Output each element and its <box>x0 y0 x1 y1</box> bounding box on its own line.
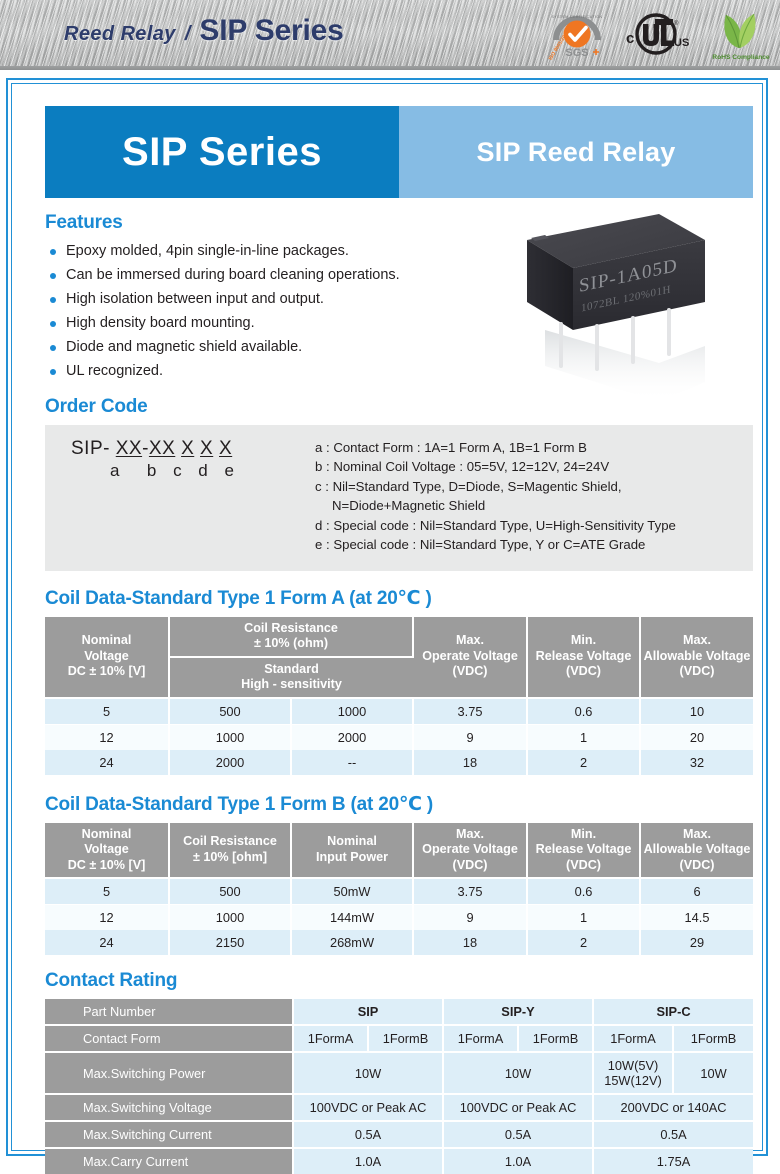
cell: 32 <box>640 750 753 776</box>
th-max-operate-voltage: Max. Operate Voltage (VDC) <box>413 823 527 879</box>
th-line: Coil Resistance <box>244 621 338 635</box>
cell: 0.5A <box>593 1121 753 1148</box>
cell: 10 <box>640 698 753 725</box>
svg-text:SYSTEM CERTIFICATION: SYSTEM CERTIFICATION <box>552 15 603 19</box>
sgs-iso-logo: SGS SYSTEM CERTIFICATION ISO 9001/2000 <box>546 6 608 67</box>
svg-text:®: ® <box>674 20 679 27</box>
cell: 1FormB <box>368 1025 443 1052</box>
coil-data-form-b-heading: Coil Data-Standard Type 1 Form B (at 20℃… <box>45 793 737 816</box>
list-item: High isolation between input and output. <box>47 289 737 311</box>
th-line: High - sensitivity <box>241 677 342 691</box>
cell: 1 <box>527 905 640 931</box>
cell: 5 <box>45 698 169 725</box>
order-code-section: Order Code SIP- XX-XX X X X a b c d e a … <box>39 396 737 571</box>
series-banner: SIP Series SIP Reed Relay <box>45 106 753 198</box>
th-nominal-input-power: Nominal Input Power <box>291 823 413 879</box>
cell: 0.5A <box>443 1121 593 1148</box>
order-code-letters: a b c d e <box>71 461 315 481</box>
svg-text:SGS: SGS <box>565 47 588 59</box>
rohs-compliance-logo: RoHS Compliance <box>712 6 770 67</box>
cell: 1FormA <box>443 1025 518 1052</box>
features-heading: Features <box>45 212 737 234</box>
cell: 1000 <box>169 724 291 750</box>
row-label-contact-form: Contact Form <box>45 1025 293 1052</box>
th-coil-resistance: Coil Resistance ± 10% (ohm) <box>169 617 413 657</box>
brand-subtitle: Reed Relay <box>64 23 176 46</box>
th-line: Voltage <box>84 842 129 856</box>
brand-maintitle: SIP Series <box>199 14 343 48</box>
banner-series-block: SIP Series <box>45 106 399 198</box>
row-label-max-switching-voltage: Max.Switching Voltage <box>45 1094 293 1121</box>
coil-data-form-a-section: Coil Data-Standard Type 1 Form A (at 20℃… <box>39 587 737 776</box>
cell-power-sip-c-a: 10W(5V) 15W(12V) <box>593 1052 673 1094</box>
banner-product-block: SIP Reed Relay <box>399 106 753 198</box>
th-max-allowable-voltage: Max. Allowable Voltage (VDC) <box>640 617 753 698</box>
th-line: (VDC) <box>680 858 715 872</box>
th-line: Input Power <box>316 850 388 864</box>
th-resistance-subtypes: Standard High - sensitivity <box>169 657 413 698</box>
th-line: Standard <box>264 662 319 676</box>
cell-power-sip-c-b: 10W <box>673 1052 753 1094</box>
table-row: Max.Switching Current 0.5A 0.5A 0.5A <box>45 1121 753 1148</box>
table-row: Max.Carry Current 1.0A 1.0A 1.75A <box>45 1148 753 1174</box>
th-line: Min. <box>571 827 596 841</box>
th-line: Allowable Voltage <box>644 842 751 856</box>
order-code-legend: a : Contact Form : 1A=1 Form A, 1B=1 For… <box>315 438 753 555</box>
cell: 6 <box>640 878 753 905</box>
cell: 12 <box>45 724 169 750</box>
certification-logos: SGS SYSTEM CERTIFICATION ISO 9001/2000 c… <box>546 6 770 67</box>
cell: 1.75A <box>593 1148 753 1174</box>
cell: 50mW <box>291 878 413 905</box>
cell: 2 <box>527 750 640 776</box>
cell: 2 <box>527 930 640 956</box>
cell-power-sip: 10W <box>293 1052 443 1094</box>
order-code-string: SIP- XX-XX X X X <box>71 438 315 460</box>
th-coil-resistance: Coil Resistance ± 10% [ohm] <box>169 823 291 879</box>
cell-part-sip-y: SIP-Y <box>443 999 593 1025</box>
power-line-2: 15W(12V) <box>604 1073 662 1088</box>
cell: 1000 <box>169 905 291 931</box>
page-header: Reed Relay / SIP Series SGS SYSTEM CERTI… <box>0 0 780 70</box>
legend-line-c2: N=Diode+Magnetic Shield <box>315 496 753 516</box>
th-line: ± 10% (ohm) <box>254 636 328 650</box>
table-row: 24 2000 -- 18 2 32 <box>45 750 753 776</box>
banner-series-title: SIP Series <box>122 130 322 175</box>
list-item: UL recognized. <box>47 361 737 383</box>
th-line: Max. <box>456 827 484 841</box>
cell: 29 <box>640 930 753 956</box>
sgs-icon: SGS SYSTEM CERTIFICATION ISO 9001/2000 <box>546 6 608 62</box>
list-item: Can be immersed during board cleaning op… <box>47 265 737 287</box>
th-line: ± 10% [ohm] <box>193 850 267 864</box>
coil-data-form-a-heading: Coil Data-Standard Type 1 Form A (at 20℃… <box>45 587 737 610</box>
power-line-1: 10W(5V) <box>608 1058 659 1073</box>
svg-text:c: c <box>626 30 634 47</box>
cell: 9 <box>413 905 527 931</box>
legend-line-b: b : Nominal Coil Voltage : 05=5V, 12=12V… <box>315 457 753 477</box>
legend-line-a: a : Contact Form : 1A=1 Form A, 1B=1 For… <box>315 438 753 458</box>
row-label-max-switching-current: Max.Switching Current <box>45 1121 293 1148</box>
table-row: 12 1000 144mW 9 1 14.5 <box>45 905 753 931</box>
page-frame-inner: SIP Series SIP Reed Relay <box>11 83 763 1151</box>
cell: 2000 <box>169 750 291 776</box>
legend-line-d: d : Special code : Nil=Standard Type, U=… <box>315 516 753 536</box>
cell: 1.0A <box>293 1148 443 1174</box>
table-row: Max.Switching Power 10W 10W 10W(5V) 15W(… <box>45 1052 753 1094</box>
cell: 500 <box>169 698 291 725</box>
th-line: Min. <box>571 633 596 647</box>
order-code-box: SIP- XX-XX X X X a b c d e a : Contact F… <box>45 425 753 571</box>
th-line: Nominal <box>82 633 132 647</box>
table-row: 5 500 1000 3.75 0.6 10 <box>45 698 753 725</box>
cell: 100VDC or Peak AC <box>443 1094 593 1121</box>
th-min-release-voltage: Min. Release Voltage (VDC) <box>527 617 640 698</box>
cell: 1FormB <box>518 1025 593 1052</box>
cell: 1FormA <box>293 1025 368 1052</box>
table-row: 5 500 50mW 3.75 0.6 6 <box>45 878 753 905</box>
order-code-pattern: SIP- XX-XX X X X a b c d e <box>45 438 315 555</box>
cell: 144mW <box>291 905 413 931</box>
cell: 0.5A <box>293 1121 443 1148</box>
th-line: Allowable Voltage <box>644 649 751 663</box>
ul-recognized-logo: c US ® <box>624 12 696 61</box>
th-line: Nominal <box>327 834 377 848</box>
cell: 9 <box>413 724 527 750</box>
th-line: Release Voltage <box>536 842 632 856</box>
leaf-icon: RoHS Compliance <box>712 6 770 62</box>
features-section: Features Epoxy molded, 4pin single-in-li… <box>39 212 737 383</box>
th-line: DC ± 10% [V] <box>68 664 146 678</box>
coil-data-form-a-table: Nominal Voltage DC ± 10% [V] Coil Resist… <box>45 617 753 776</box>
contact-rating-heading: Contact Rating <box>45 970 737 992</box>
cell: 24 <box>45 930 169 956</box>
cell: 3.75 <box>413 878 527 905</box>
list-item: High density board mounting. <box>47 313 737 335</box>
cell: 1FormA <box>593 1025 673 1052</box>
brand-separator: / <box>185 23 191 46</box>
legend-line-e: e : Special code : Nil=Standard Type, Y … <box>315 535 753 555</box>
cell: 268mW <box>291 930 413 956</box>
th-line: Operate Voltage <box>422 649 518 663</box>
th-line: Operate Voltage <box>422 842 518 856</box>
th-line: (VDC) <box>453 858 488 872</box>
table-row: Contact Form 1FormA 1FormB 1FormA 1FormB… <box>45 1025 753 1052</box>
ul-icon: c US ® <box>624 12 696 56</box>
th-line: (VDC) <box>566 858 601 872</box>
cell: 100VDC or Peak AC <box>293 1094 443 1121</box>
table-row: Part Number SIP SIP-Y SIP-C <box>45 999 753 1025</box>
cell: 24 <box>45 750 169 776</box>
table-header-row: Nominal Voltage DC ± 10% [V] Coil Resist… <box>45 823 753 879</box>
cell: 1FormB <box>673 1025 753 1052</box>
cell: 5 <box>45 878 169 905</box>
order-code-heading: Order Code <box>45 396 737 418</box>
coil-data-form-b-table: Nominal Voltage DC ± 10% [V] Coil Resist… <box>45 823 753 957</box>
table-header-row: Nominal Voltage DC ± 10% [V] Coil Resist… <box>45 617 753 657</box>
th-line: (VDC) <box>566 664 601 678</box>
page-frame: SIP Series SIP Reed Relay <box>6 78 768 1156</box>
row-label-max-switching-power: Max.Switching Power <box>45 1052 293 1094</box>
contact-rating-table: Part Number SIP SIP-Y SIP-C Contact Form… <box>45 999 753 1174</box>
cell: 12 <box>45 905 169 931</box>
cell: 200VDC or 140AC <box>593 1094 753 1121</box>
th-min-release-voltage: Min. Release Voltage (VDC) <box>527 823 640 879</box>
table-row: 12 1000 2000 9 1 20 <box>45 724 753 750</box>
cell-power-sip-y: 10W <box>443 1052 593 1094</box>
cell: 1 <box>527 724 640 750</box>
th-max-allowable-voltage: Max. Allowable Voltage (VDC) <box>640 823 753 879</box>
cell: 0.6 <box>527 698 640 725</box>
cell: 500 <box>169 878 291 905</box>
cell: 2000 <box>291 724 413 750</box>
th-line: Max. <box>683 633 711 647</box>
row-label-part-number: Part Number <box>45 999 293 1025</box>
cell: 1.0A <box>443 1148 593 1174</box>
page-content: SIP Series SIP Reed Relay <box>39 106 737 1174</box>
svg-text:US: US <box>674 37 689 49</box>
th-line: Max. <box>456 633 484 647</box>
th-line: Max. <box>683 827 711 841</box>
cell-part-sip: SIP <box>293 999 443 1025</box>
th-line: Voltage <box>84 649 129 663</box>
cell: 20 <box>640 724 753 750</box>
th-max-operate-voltage: Max. Operate Voltage (VDC) <box>413 617 527 698</box>
th-line: (VDC) <box>453 664 488 678</box>
cell: 3.75 <box>413 698 527 725</box>
th-nominal-voltage: Nominal Voltage DC ± 10% [V] <box>45 823 169 879</box>
svg-text:RoHS Compliance: RoHS Compliance <box>712 54 769 61</box>
contact-rating-section: Contact Rating Part Number SIP SIP-Y SIP… <box>39 970 737 1174</box>
cell: 2150 <box>169 930 291 956</box>
th-line: DC ± 10% [V] <box>68 858 146 872</box>
list-item: Diode and magnetic shield available. <box>47 337 737 359</box>
legend-line-c: c : Nil=Standard Type, D=Diode, S=Magent… <box>315 477 753 497</box>
coil-data-form-b-section: Coil Data-Standard Type 1 Form B (at 20℃… <box>39 793 737 957</box>
cell: 0.6 <box>527 878 640 905</box>
cell: 1000 <box>291 698 413 725</box>
cell-part-sip-c: SIP-C <box>593 999 753 1025</box>
th-line: Nominal <box>82 827 132 841</box>
table-row: 24 2150 268mW 18 2 29 <box>45 930 753 956</box>
cell: -- <box>291 750 413 776</box>
list-item: Epoxy molded, 4pin single-in-line packag… <box>47 241 737 263</box>
row-label-max-carry-current: Max.Carry Current <box>45 1148 293 1174</box>
th-line: (VDC) <box>680 664 715 678</box>
th-line: Release Voltage <box>536 649 632 663</box>
cell: 14.5 <box>640 905 753 931</box>
table-row: Max.Switching Voltage 100VDC or Peak AC … <box>45 1094 753 1121</box>
cell: 18 <box>413 750 527 776</box>
features-list: Epoxy molded, 4pin single-in-line packag… <box>39 241 737 383</box>
th-line: Coil Resistance <box>183 834 277 848</box>
th-nominal-voltage: Nominal Voltage DC ± 10% [V] <box>45 617 169 698</box>
banner-product-title: SIP Reed Relay <box>477 137 676 168</box>
brand-title: Reed Relay / SIP Series <box>64 14 344 48</box>
cell: 18 <box>413 930 527 956</box>
